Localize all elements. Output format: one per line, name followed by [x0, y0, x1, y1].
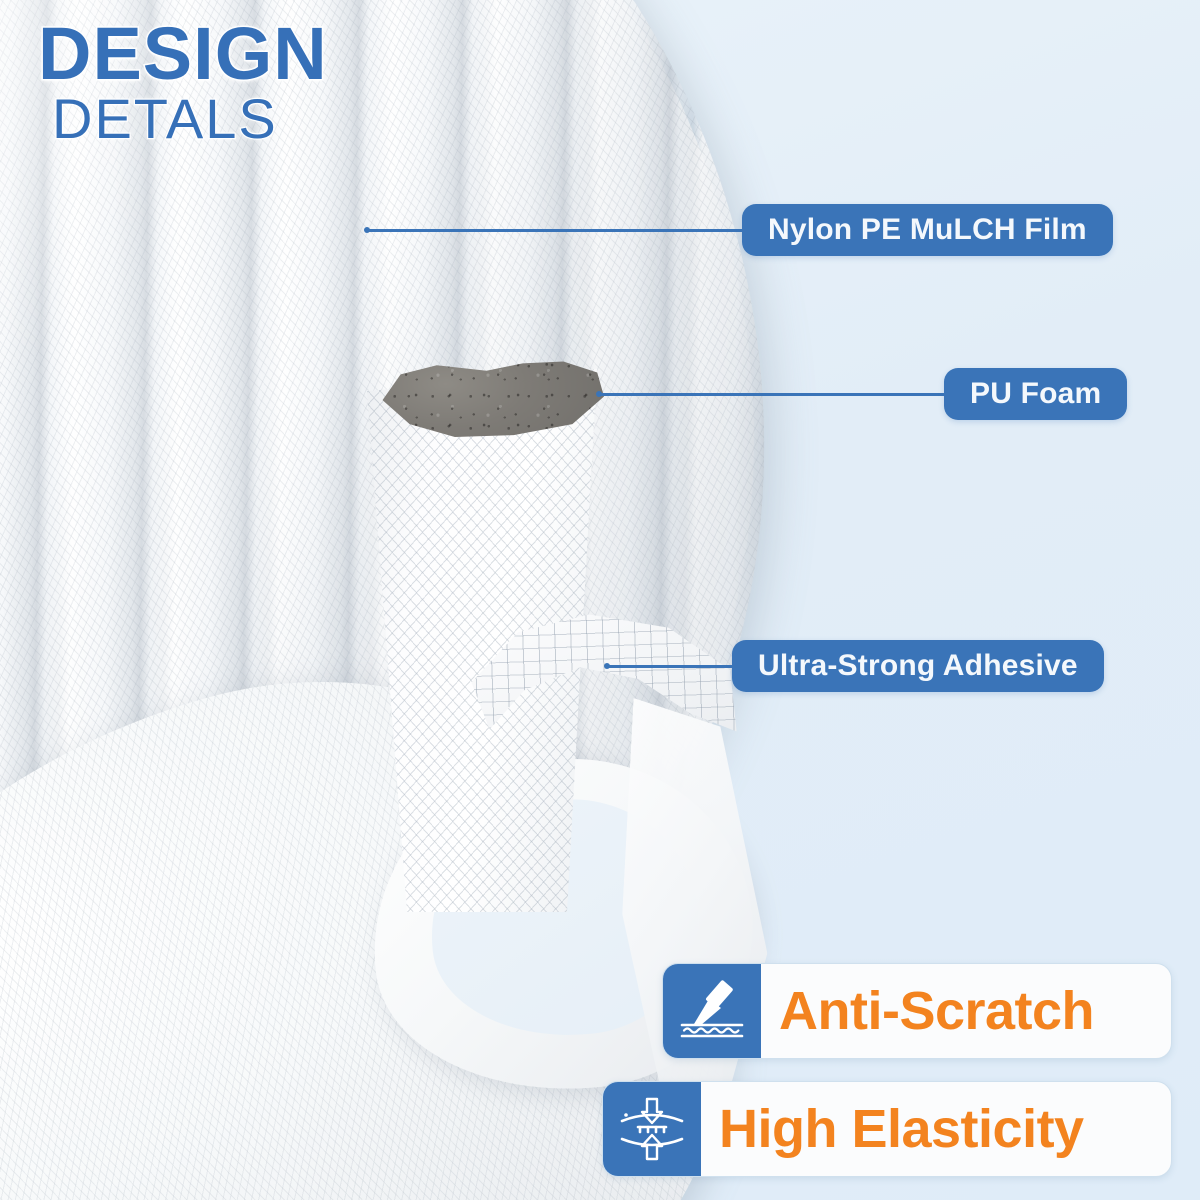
- feature-badge-high-elasticity: High Elasticity: [602, 1081, 1172, 1177]
- blade-on-surface-icon: [663, 964, 761, 1058]
- feature-label-high-elasticity: High Elasticity: [701, 1082, 1171, 1176]
- title-line-secondary: DETALS: [52, 91, 328, 147]
- adhesive-grid-texture: [464, 603, 745, 811]
- coil-body-image: [0, 0, 854, 1124]
- strip-film-texture: [352, 352, 602, 912]
- pu-foam-pores-texture: [378, 356, 604, 448]
- compression-arrows-icon: [603, 1082, 701, 1176]
- product-infographic-canvas: DESIGN DETALS Nylon PE MuLCH Film PU Foa…: [0, 0, 1200, 1200]
- adhesive-peel-flap: [464, 603, 745, 811]
- leader-line-foam: [600, 393, 948, 396]
- callout-pu-foam: PU Foam: [944, 368, 1127, 420]
- leader-line-adhesive: [608, 665, 736, 668]
- leader-line-film: [368, 229, 746, 232]
- strip-cross-section: [352, 352, 602, 912]
- callout-ultra-strong-adhesive: Ultra-Strong Adhesive: [732, 640, 1104, 692]
- feature-label-anti-scratch: Anti-Scratch: [761, 964, 1171, 1058]
- feature-badge-anti-scratch: Anti-Scratch: [662, 963, 1172, 1059]
- title-line-primary: DESIGN: [38, 18, 328, 89]
- callout-nylon-pe-mulch-film: Nylon PE MuLCH Film: [742, 204, 1113, 256]
- pu-foam-core: [378, 356, 604, 448]
- page-title: DESIGN DETALS: [38, 18, 328, 147]
